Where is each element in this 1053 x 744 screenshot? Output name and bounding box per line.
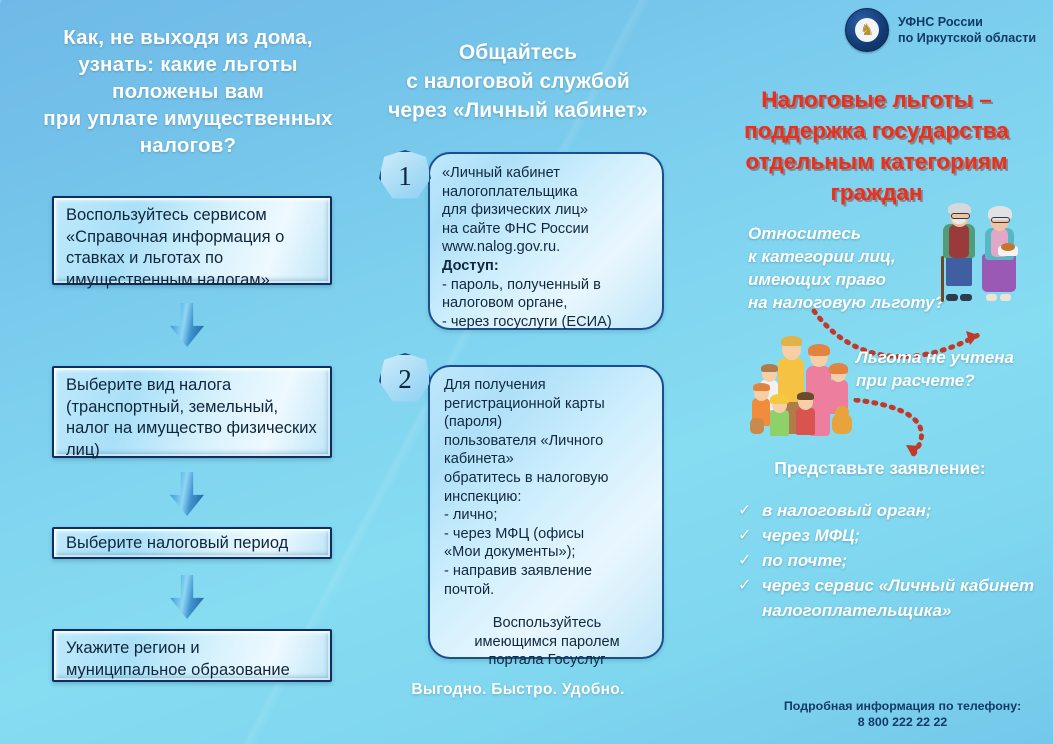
step-2-line: почтой. [444,581,650,600]
flow-step-1: Воспользуйтесь сервисом «Справочная инфо… [52,196,332,285]
arrow-down-icon [170,472,204,516]
step-2-footer-line: имеющимся паролем [444,633,650,652]
contact-phone-number: 8 800 222 22 22 [760,714,1045,730]
step-2-line: Для получения [444,376,650,395]
right-question-2: Льгота не учтена при расчете? [856,346,1036,392]
step-1-access-label: Доступ: [442,257,650,276]
fns-logo-line2: по Иркутской области [898,30,1036,46]
step-2-line: - лично; [444,506,650,525]
check-icon: ✓ [738,523,751,548]
step-2-line: - направив заявление [444,562,650,581]
arrow-down-icon [170,303,204,347]
flow-step-1-label: Воспользуйтесь сервисом «Справочная инфо… [66,206,284,289]
step-1-line: «Личный кабинет [442,164,650,183]
family-illustration [748,328,856,446]
step-1-box: «Личный кабинет налогоплательщика для фи… [428,152,664,330]
left-heading: Как, не выходя из дома, узнать: какие ль… [18,24,358,159]
apply-option-item: ✓ через МФЦ; [736,523,1048,548]
right-question-1: Относитесь к категории лиц, имеющих прав… [748,222,948,314]
contact-footer-label: Подробная информация по телефону: [760,698,1045,714]
step-1-text: «Личный кабинет налогоплательщика для фи… [442,164,650,331]
check-icon: ✓ [738,498,751,523]
check-icon: ✓ [738,573,751,598]
step-2-number-badge: 2 [379,353,431,405]
middle-slogan: Выгодно. Быстро. Удобно. [368,681,668,699]
step-2-box: Для получения регистрационной карты (пар… [428,365,664,659]
step-1-line: налогоплательщика [442,183,650,202]
step-2-footer-line: Воспользуйтесь [444,614,650,633]
step-2-line: регистрационной карты [444,395,650,414]
apply-heading-text: Представьте заявление: [774,458,986,478]
flow-step-3-label: Выберите налоговый период [66,534,288,552]
flow-step-4-label: Укажите регион и муниципальное образован… [66,639,290,679]
elderly-couple-illustration [938,198,1034,308]
step-2-line: - через МФЦ (офисы [444,525,650,544]
apply-options-list: ✓ в налоговый орган; ✓ через МФЦ; ✓ по п… [736,498,1048,623]
step-2-number: 2 [398,364,412,395]
step-1-website: www.nalog.gov.ru. [442,238,650,257]
middle-heading: Общайтесь с налоговой службой через «Лич… [368,38,668,125]
step-2-footer-line: портала Госуслуг [444,651,650,670]
middle-heading-text: Общайтесь с налоговой службой через «Лич… [388,41,648,122]
check-icon: ✓ [738,548,751,573]
step-2-line: «Мои документы»); [444,543,650,562]
arrow-down-icon [170,575,204,619]
step-2-text: Для получения регистрационной карты (пар… [444,376,650,670]
fns-logo: ♞ УФНС России по Иркутской области [845,8,1036,52]
flow-step-3: Выберите налоговый период [52,527,332,559]
apply-option-item: ✓ в налоговый орган; [736,498,1048,523]
right-heading: Налоговые льготы – поддержка государства… [700,84,1053,208]
right-question-2-text: Льгота не учтена при расчете? [856,348,1014,390]
fns-logo-text: УФНС России по Иркутской области [898,14,1036,46]
step-2-line: пользователя «Личного [444,432,650,451]
step-1-access-line: - через госуслуги (ЕСИА) [442,313,650,332]
step-2-line: кабинета» [444,450,650,469]
step-1-number-badge: 1 [379,150,431,202]
step-2-line: (пароля) [444,413,650,432]
apply-option-label: через МФЦ; [762,526,860,545]
flow-step-4: Укажите регион и муниципальное образован… [52,629,332,682]
flow-step-2-label: Выберите вид налога (транспортный, земел… [66,376,317,459]
step-1-line: для физических лиц» [442,201,650,220]
middle-slogan-text: Выгодно. Быстро. Удобно. [411,681,624,698]
apply-option-item: ✓ через сервис «Личный кабинет налогопла… [736,573,1048,623]
flow-step-2: Выберите вид налога (транспортный, земел… [52,366,332,458]
apply-option-label: по почте; [762,551,847,570]
right-question-1-text: Относитесь к категории лиц, имеющих прав… [748,224,945,312]
step-1-line: на сайте ФНС России [442,220,650,239]
step-1-access-line: - пароль, полученный в [442,276,650,295]
step-2-line: обратитесь в налоговую [444,469,650,488]
apply-heading: Представьте заявление: [730,458,1030,479]
right-heading-text: Налоговые льготы – поддержка государства… [744,87,1009,205]
contact-footer: Подробная информация по телефону: 8 800 … [760,698,1045,730]
apply-option-label: через сервис «Личный кабинет налогоплате… [762,576,1034,620]
apply-option-item: ✓ по почте; [736,548,1048,573]
apply-option-label: в налоговый орган; [762,501,932,520]
left-heading-line: Как, не выходя из дома, узнать: какие ль… [43,26,333,157]
step-2-line: инспекцию: [444,488,650,507]
step-1-access-line: налоговом органе, [442,294,650,313]
fns-logo-line1: УФНС России [898,14,1036,30]
step-1-number: 1 [398,161,412,192]
fns-emblem-icon: ♞ [845,8,889,52]
